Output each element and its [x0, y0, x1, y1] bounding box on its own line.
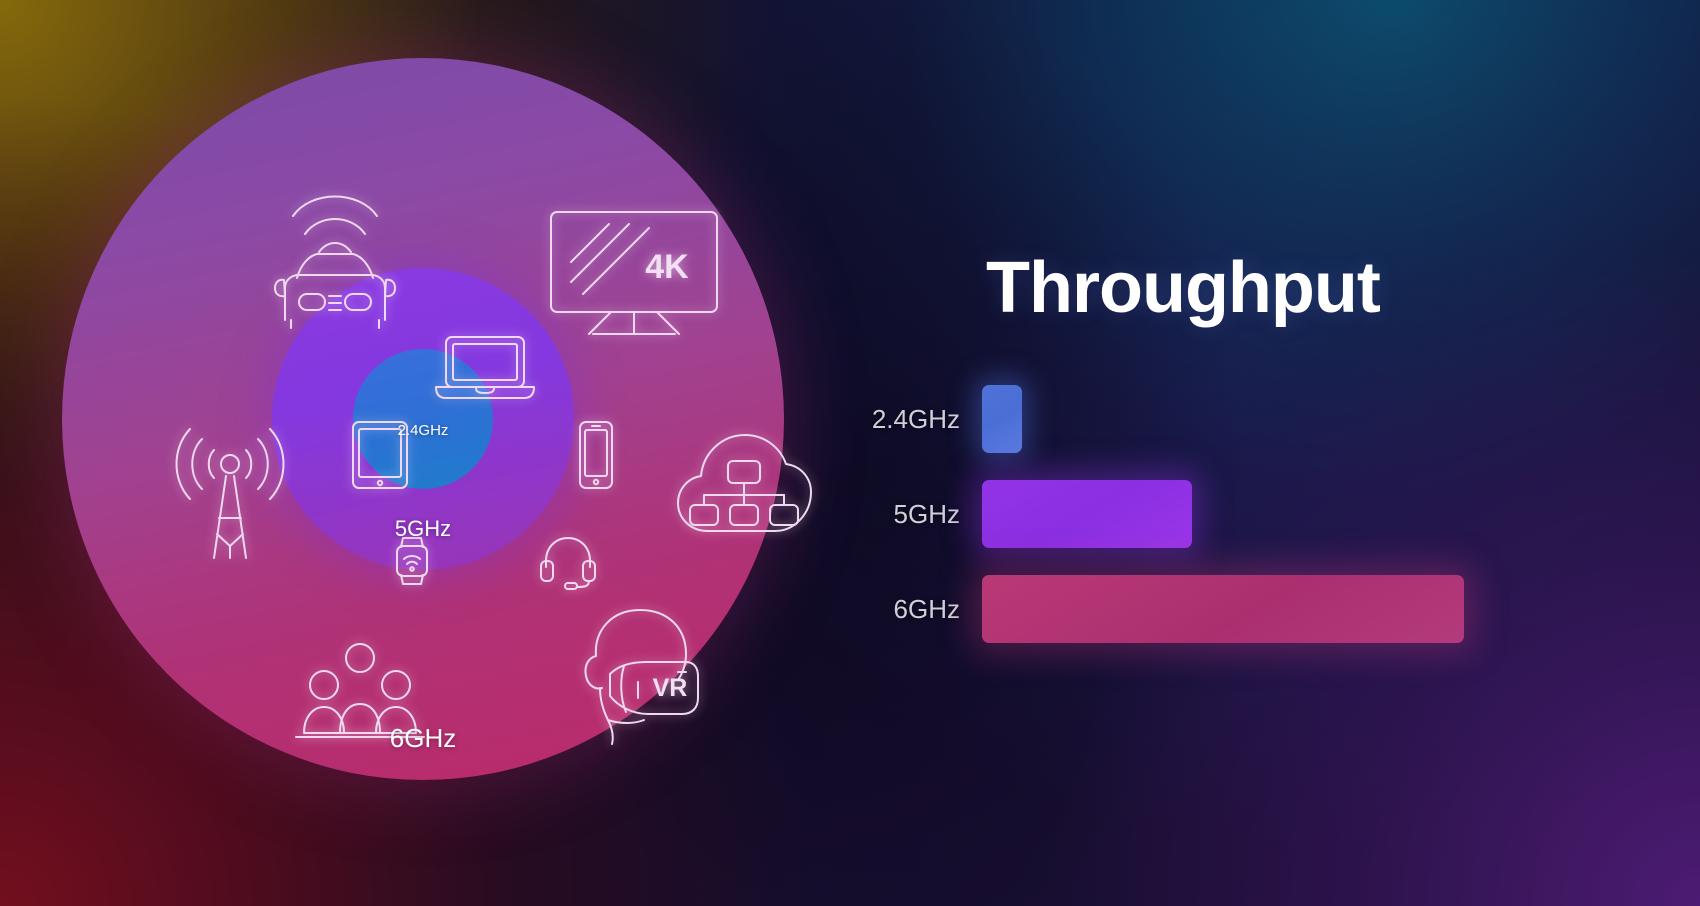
connected-car-icon — [267, 170, 403, 330]
bar-label-24ghz: 2.4GHz — [840, 404, 982, 435]
throughput-chart: Throughput 2.4GHz 5GHz 6GHz — [840, 240, 1640, 660]
chart-title: Throughput — [986, 252, 1380, 324]
tv-4k-label: 4K — [645, 248, 689, 286]
tv-4k-icon: 4K — [549, 210, 719, 336]
smartphone-icon — [578, 420, 614, 490]
band-coverage-diagram: 4K — [62, 58, 784, 780]
poster-canvas: 4K — [0, 0, 1700, 906]
cloud-network-icon — [674, 423, 814, 543]
bar-label-5ghz: 5GHz — [840, 499, 982, 530]
bar-24ghz — [982, 385, 1022, 453]
bar-6ghz — [982, 575, 1464, 643]
headset-icon — [539, 535, 597, 589]
vr-headset-label: VR — [653, 674, 688, 702]
cell-tower-icon — [174, 426, 286, 560]
ring-label-6ghz: 6GHz — [62, 723, 784, 754]
bar-row-5ghz: 5GHz — [840, 480, 1192, 548]
bar-row-6ghz: 6GHz — [840, 575, 1464, 643]
bar-label-6ghz: 6GHz — [840, 594, 982, 625]
ring-label-5ghz: 5GHz — [272, 516, 574, 542]
ring-label-24ghz: 2.4GHz — [353, 349, 493, 489]
smartwatch-icon — [393, 535, 431, 587]
bar-row-24ghz: 2.4GHz — [840, 385, 1022, 453]
bar-5ghz — [982, 480, 1192, 548]
